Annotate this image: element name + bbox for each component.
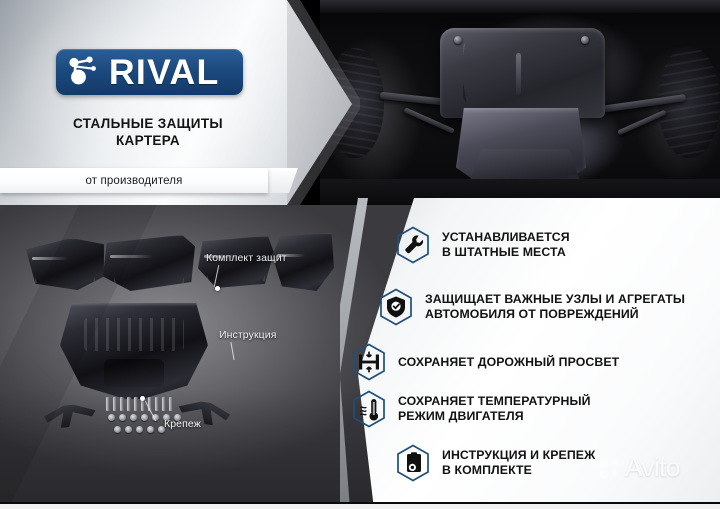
- rival-molecule-icon: [65, 55, 105, 89]
- label-instruction: Инструкция: [219, 329, 277, 341]
- clipboard-bolt-icon: [396, 444, 430, 482]
- promo-banner: Преимущества RIVAL СТАЛЬНЫЕ ЗАЩИТЫ КАРТЕ…: [0, 0, 720, 509]
- bolt: [155, 397, 159, 411]
- leader-dot: [140, 396, 145, 401]
- benefit-label-4: СОХРАНЯЕТ ТЕМПЕРАТУРНЫЙ РЕЖИМ ДВИГАТЕЛЯ: [398, 394, 591, 424]
- shield-check-icon: [379, 288, 413, 326]
- bolt: [162, 397, 166, 411]
- photo-skid-plate-front: [440, 28, 605, 118]
- avito-wordmark: Avito: [625, 452, 680, 483]
- benefit-item-4: СОХРАНЯЕТ ТЕМПЕРАТУРНЫЙ РЕЖИМ ДВИГАТЕЛЯ: [352, 390, 591, 428]
- avito-watermark: Avito: [596, 452, 680, 483]
- hero-title: СТАЛЬНЫЕ ЗАЩИТЫ КАРТЕРА: [0, 115, 296, 150]
- washer: [141, 414, 148, 421]
- benefit-item-2: ЗАЩИЩАЕТ ВАЖНЫЕ УЗЛЫ И АГРЕГАТЫ АВТОМОБИ…: [379, 288, 685, 326]
- washers-group-bottom: [114, 426, 165, 433]
- bolt: [120, 397, 124, 411]
- skid-plate-part-1: [26, 238, 104, 290]
- bottom-frame: [0, 504, 720, 509]
- washer: [108, 414, 115, 421]
- rival-logo-wordmark: RIVAL: [109, 55, 220, 90]
- washer: [114, 426, 121, 433]
- washer: [119, 414, 126, 421]
- benefit-label-2: ЗАЩИЩАЕТ ВАЖНЫЕ УЗЛЫ И АГРЕГАТЫ АВТОМОБИ…: [425, 292, 685, 322]
- thermometer-icon: [352, 390, 386, 428]
- bolt: [169, 397, 173, 411]
- label-hardware: Крепеж: [164, 418, 201, 430]
- benefit-label-5: ИНСТРУКЦИЯ И КРЕПЕЖ В КОМПЛЕКТЕ: [442, 448, 595, 478]
- photo-bolt: [454, 36, 462, 44]
- rival-logo: RIVAL: [56, 49, 243, 95]
- benefit-item-5: ИНСТРУКЦИЯ И КРЕПЕЖ В КОМПЛЕКТЕ: [396, 444, 595, 482]
- bolt: [127, 397, 131, 411]
- avito-dots-icon: [596, 457, 622, 479]
- wrench-icon: [396, 226, 430, 264]
- washer: [130, 414, 137, 421]
- benefit-item-3: СОХРАНЯЕТ ДОРОЖНЫЙ ПРОСВЕТ: [352, 343, 619, 381]
- bolt: [106, 397, 110, 411]
- photo-bolt: [581, 36, 589, 44]
- underbody-photo: Преимущества: [320, 0, 720, 205]
- benefit-label-3: СОХРАНЯЕТ ДОРОЖНЫЙ ПРОСВЕТ: [398, 355, 619, 370]
- leader-dot: [215, 286, 220, 291]
- bolt: [113, 397, 117, 411]
- subtitle-bar: от производителя: [0, 168, 268, 193]
- skid-plate-main: [60, 303, 208, 399]
- washer: [125, 426, 132, 433]
- benefit-label-1: УСТАНАВЛИВАЕТСЯ В ШТАТНЫЕ МЕСТА: [442, 230, 570, 260]
- washer: [136, 426, 143, 433]
- bolt: [134, 397, 138, 411]
- skid-plate-part-2: [103, 235, 195, 291]
- photo-crossbar: [320, 0, 720, 13]
- hero-subtitle: от производителя: [85, 175, 182, 187]
- leader-line: [230, 342, 234, 360]
- benefit-item-1: УСТАНАВЛИВАЕТСЯ В ШТАТНЫЕ МЕСТА: [396, 226, 570, 264]
- label-protection-kit: Комплект защит: [206, 252, 287, 264]
- washer: [147, 426, 154, 433]
- ground-clearance-icon: [352, 343, 386, 381]
